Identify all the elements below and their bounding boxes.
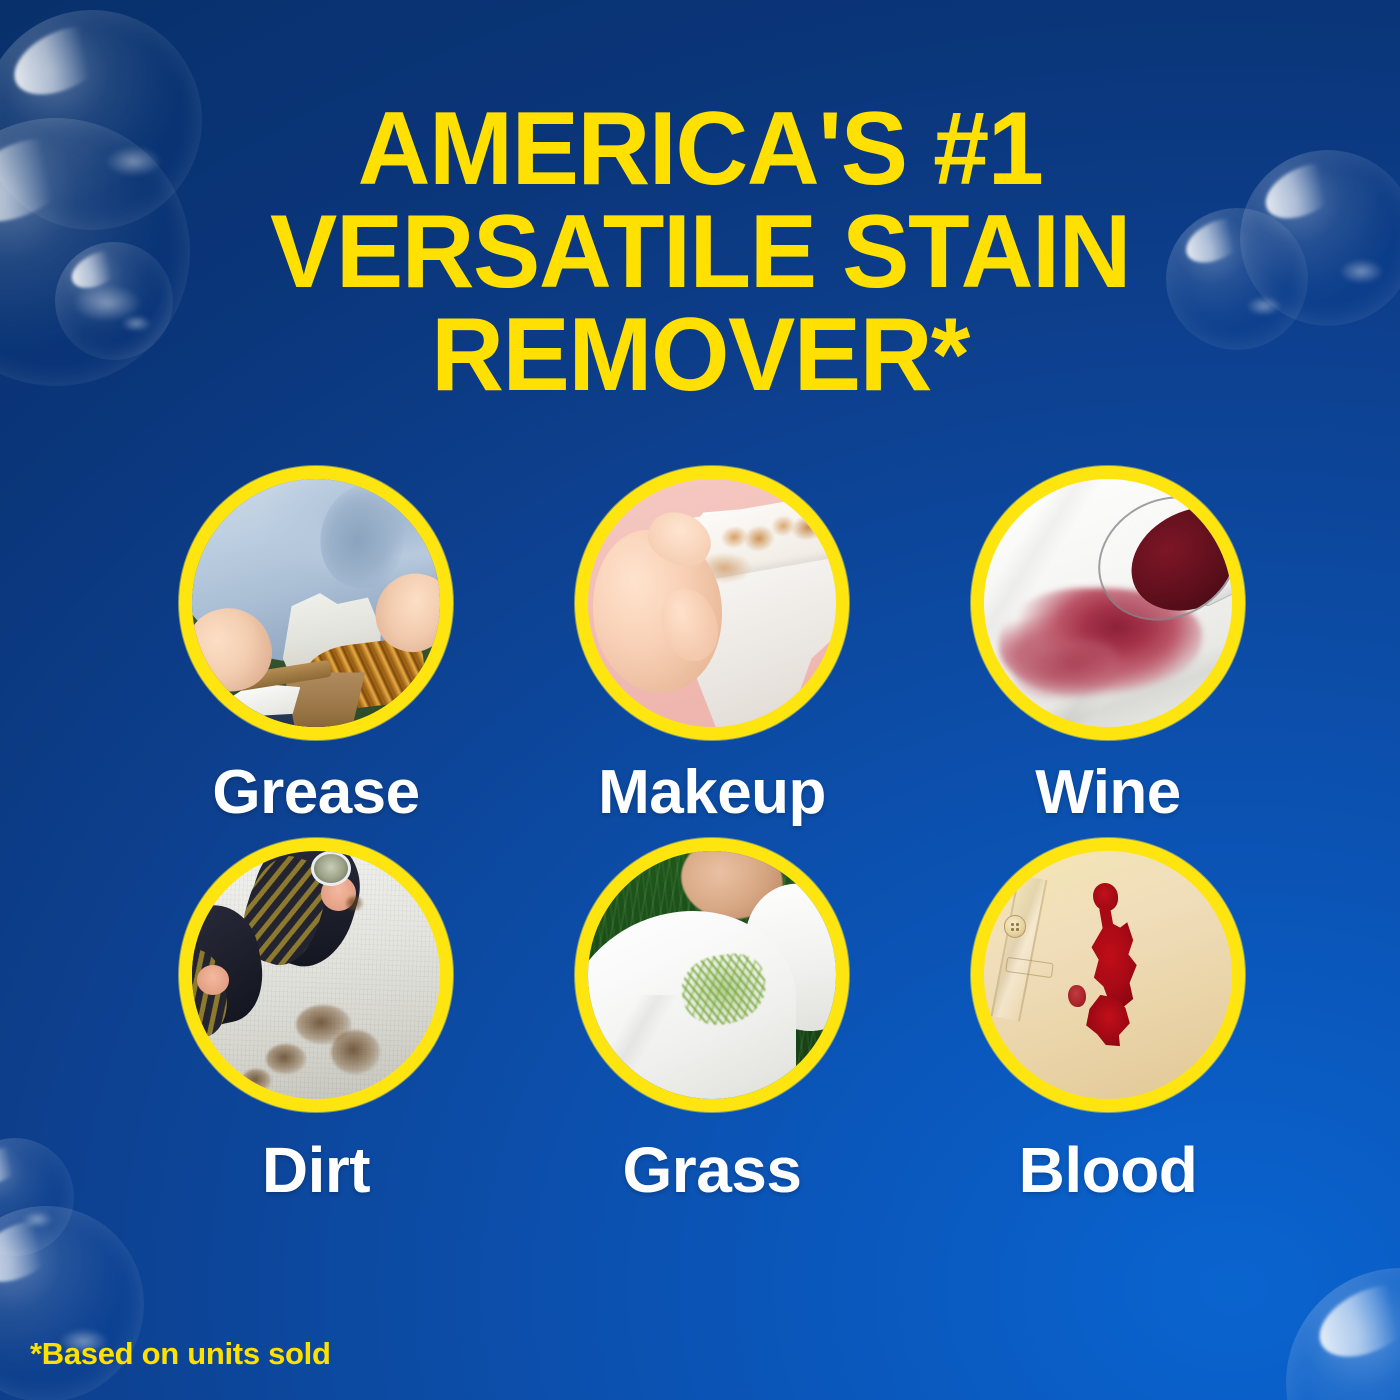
stain-photo-ring	[575, 838, 849, 1112]
stain-type-grid: Grease Makeup	[118, 466, 1306, 1202]
stain-label: Grass	[623, 1138, 802, 1202]
wine-stain-photo	[984, 479, 1232, 727]
stain-row-1: Grease Makeup	[118, 466, 1306, 824]
stain-card-grease: Grease	[118, 466, 514, 824]
headline-line-1: AMERICA'S #1	[21, 98, 1379, 201]
stain-photo-ring	[971, 838, 1245, 1112]
headline-line-2: VERSATILE STAIN	[21, 201, 1379, 304]
stain-label: Wine	[1035, 762, 1181, 824]
soap-bubble-icon	[0, 1138, 74, 1256]
headline: AMERICA'S #1 VERSATILE STAIN REMOVER*	[21, 98, 1379, 407]
stain-photo-ring	[179, 838, 453, 1112]
promo-banner: AMERICA'S #1 VERSATILE STAIN REMOVER*	[0, 0, 1400, 1400]
stain-card-blood: Blood	[910, 838, 1306, 1202]
stain-photo-ring	[575, 466, 849, 740]
stain-card-makeup: Makeup	[514, 466, 910, 824]
stain-card-wine: Wine	[910, 466, 1306, 824]
stain-label: Dirt	[262, 1138, 370, 1202]
grass-stain-photo	[588, 851, 836, 1099]
stain-card-grass: Grass	[514, 838, 910, 1202]
footnote-disclaimer: *Based on units sold	[30, 1336, 331, 1372]
grease-stain-photo	[192, 479, 440, 727]
dirt-stain-photo	[192, 851, 440, 1099]
headline-line-3: REMOVER*	[21, 304, 1379, 407]
makeup-stain-photo	[588, 479, 836, 727]
stain-label: Makeup	[598, 762, 826, 824]
stain-photo-ring	[971, 466, 1245, 740]
stain-label: Blood	[1019, 1138, 1198, 1202]
stain-row-2: Dirt Grass	[118, 838, 1306, 1202]
blood-stain-photo	[984, 851, 1232, 1099]
stain-label: Grease	[212, 762, 419, 824]
soap-bubble-icon	[1286, 1268, 1400, 1400]
stain-card-dirt: Dirt	[118, 838, 514, 1202]
stain-photo-ring	[179, 466, 453, 740]
